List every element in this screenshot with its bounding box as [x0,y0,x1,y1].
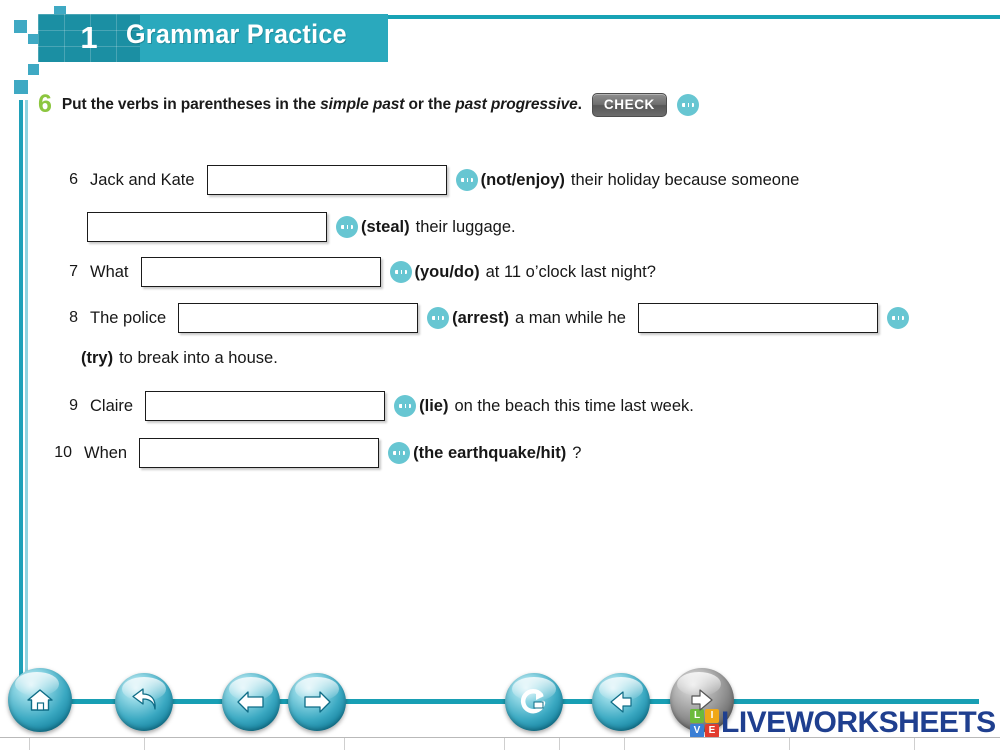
strip-cell [505,738,560,750]
exercise-row: 9Claire(lie)on the beach this time last … [52,391,697,421]
unit-number: 1 [38,14,140,62]
decor-square [14,80,28,94]
exercise-text: their luggage. [413,218,519,237]
strip-cell [560,738,625,750]
answer-input[interactable] [145,391,385,421]
verb-prompt: (arrest) [449,309,512,328]
audio-dots-icon[interactable] [456,169,478,191]
refresh-icon [519,688,549,716]
left-accent-rule [19,100,23,685]
exercise-row: (steal)their luggage. [78,212,519,242]
previous-page-button[interactable] [222,673,280,731]
answer-input[interactable] [139,438,379,468]
exercise-row: 7What(you/do)at 11 o’clock last night? [52,257,659,287]
exercise-number: 8 [52,309,78,327]
exercise-text: What [87,263,132,282]
exercise-text: to break into a house. [116,349,281,368]
exercise-number: 6 [52,171,78,189]
exercise-number: 7 [52,263,78,281]
check-button[interactable]: CHECK [592,93,667,117]
instruction-text-part2: or the [404,96,455,113]
exercise-text: When [81,444,130,463]
back-button[interactable] [592,673,650,731]
audio-dots-icon[interactable] [394,395,416,417]
audio-dots-icon[interactable] [390,261,412,283]
instruction-text-part1: Put the verbs in parentheses in the [62,96,320,113]
audio-dots-icon[interactable] [427,307,449,329]
audio-dots-icon[interactable] [677,94,699,116]
decor-square [28,64,39,75]
home-button[interactable] [8,668,72,732]
instruction-italic-past-progressive: past progressive [455,96,577,113]
worksheet-page: 1 Grammar Practice 6 Put the verbs in pa… [0,0,1000,750]
strip-cell [345,738,505,750]
verb-prompt: (you/do) [412,263,483,282]
instruction-italic-simple-past: simple past [320,96,404,113]
triangle-right-icon [687,687,717,713]
page-title: Grammar Practice [126,19,347,50]
exercise-number: 9 [52,397,78,415]
audio-dots-icon[interactable] [887,307,909,329]
arrow-left-icon [236,689,266,715]
answer-input[interactable] [207,165,447,195]
instruction-text-part3: . [578,96,582,113]
audio-dots-icon[interactable] [336,216,358,238]
bottom-browser-strip [0,737,1000,750]
decor-square [28,34,38,44]
exercise-text: a man while he [512,309,629,328]
undo-button[interactable] [115,673,173,731]
verb-prompt: (try) [78,349,116,368]
decor-square [14,20,27,33]
exercise-text: Claire [87,397,136,416]
exercise-text: their holiday because someone [568,171,802,190]
verb-prompt: (not/enjoy) [478,171,568,190]
strip-cell [0,738,30,750]
exercise-text: ? [569,444,584,463]
exercise-text: on the beach this time last week. [451,397,696,416]
verb-prompt: (lie) [416,397,451,416]
liveworksheets-logo: LIVE LIVEWORKSHEETS [690,706,996,740]
arrow-right-icon [302,689,332,715]
logo-cube: V [690,724,704,738]
strip-cell [790,738,915,750]
strip-cell [145,738,345,750]
logo-cube: E [705,724,719,738]
answer-input[interactable] [87,212,327,242]
left-accent-rule-soft [25,100,28,685]
home-icon [25,686,55,714]
exercise-text: at 11 o’clock last night? [483,263,659,282]
triangle-left-icon [606,689,636,715]
answer-input[interactable] [638,303,878,333]
undo-arrow-icon [129,688,159,716]
exercise-text: Jack and Kate [87,171,198,190]
strip-cell [30,738,145,750]
verb-prompt: (steal) [358,218,413,237]
exercise-row: 8The police(arrest)a man while he [52,303,909,333]
exercise-row: (try)to break into a house. [78,349,281,368]
instruction-text: Put the verbs in parentheses in the simp… [62,96,582,114]
instruction-line: 6 Put the verbs in parentheses in the si… [38,92,699,117]
answer-input[interactable] [178,303,418,333]
verb-prompt: (the earthquake/hit) [410,444,569,463]
refresh-button[interactable] [505,673,563,731]
next-page-button[interactable] [288,673,346,731]
instruction-number: 6 [38,92,52,117]
exercise-number: 10 [46,444,72,462]
exercise-row: 10When(the earthquake/hit)? [46,438,584,468]
answer-input[interactable] [141,257,381,287]
exercise-text: The police [87,309,169,328]
strip-cell [625,738,790,750]
exercise-row: 6Jack and Kate(not/enjoy)their holiday b… [52,165,802,195]
audio-dots-icon[interactable] [388,442,410,464]
liveworksheets-wordmark: LIVEWORKSHEETS [721,706,996,740]
